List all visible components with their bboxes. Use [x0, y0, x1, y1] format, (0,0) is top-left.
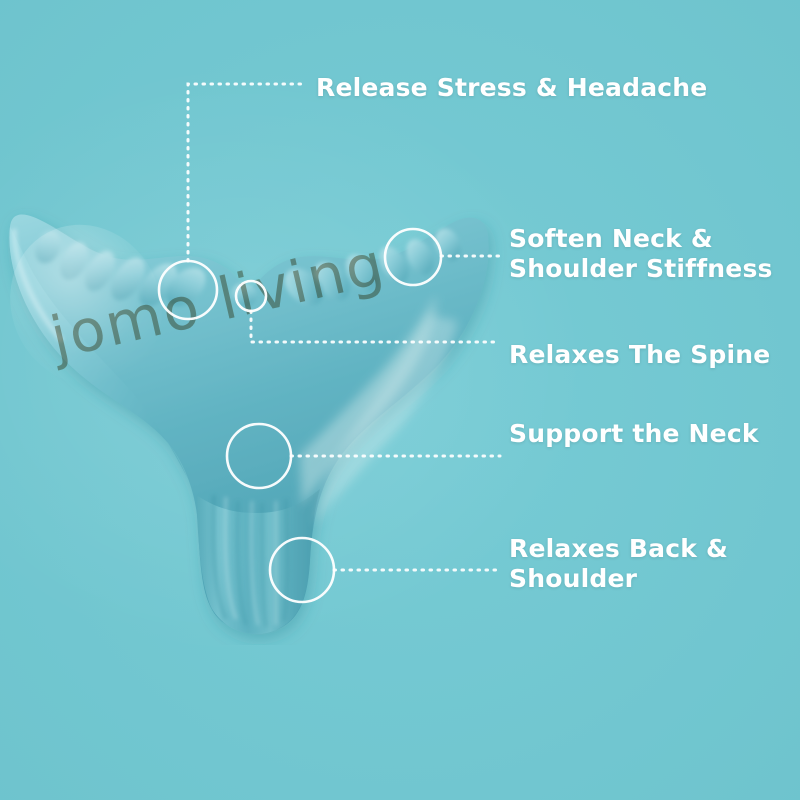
- annotation-overlay: [0, 0, 800, 800]
- infographic-canvas: jomo living Release Stress & Headache So…: [0, 0, 800, 800]
- callout-label-release-stress-headache: Release Stress & Headache: [316, 73, 707, 103]
- highlight-circle-2: [236, 281, 266, 311]
- callout-marker-soften-neck-shoulder-stiffness[interactable]: [385, 229, 500, 285]
- callout-marker-relaxes-the-spine[interactable]: [236, 281, 500, 342]
- callout-marker-support-the-neck[interactable]: [227, 424, 500, 488]
- highlight-circle-0: [159, 261, 217, 319]
- callout-label-relaxes-back-shoulder: Relaxes Back & Shoulder: [509, 534, 728, 593]
- leader-line-2: [251, 311, 500, 342]
- callout-label-support-the-neck: Support the Neck: [509, 419, 759, 449]
- callout-marker-relaxes-back-shoulder[interactable]: [270, 538, 500, 602]
- callout-label-relaxes-the-spine: Relaxes The Spine: [509, 340, 770, 370]
- highlight-circle-1: [385, 229, 441, 285]
- highlight-circle-3: [227, 424, 291, 488]
- highlight-circle-4: [270, 538, 334, 602]
- callout-marker-release-stress-headache[interactable]: [159, 84, 305, 319]
- leader-line-0: [188, 84, 305, 261]
- callout-label-soften-neck-shoulder-stiffness: Soften Neck & Shoulder Stiffness: [509, 224, 773, 283]
